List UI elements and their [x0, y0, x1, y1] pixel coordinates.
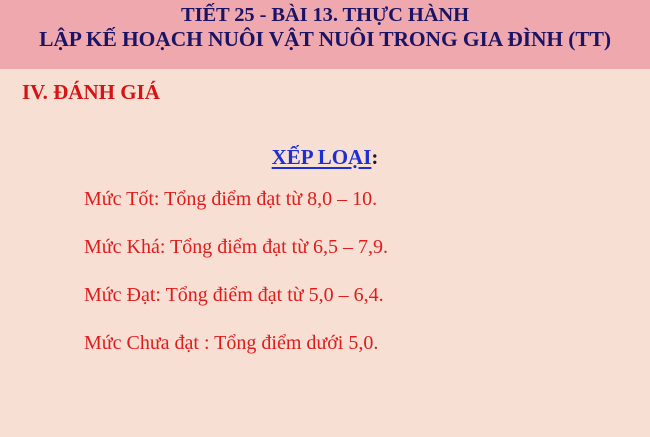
rank-list: Mức Tốt: Tổng điểm đạt từ 8,0 – 10. Mức … — [84, 189, 624, 357]
rank-title: XẾP LOẠI: — [0, 145, 650, 170]
rank-title-word: XẾP LOẠI — [272, 145, 372, 169]
lesson-title-line-1: TIẾT 25 - BÀI 13. THỰC HÀNH — [181, 4, 469, 26]
slide: TIẾT 25 - BÀI 13. THỰC HÀNH LẬP KẾ HOẠCH… — [0, 0, 650, 437]
list-item: Mức Đạt: Tổng điểm đạt từ 5,0 – 6,4. — [84, 285, 624, 309]
section-heading-danh-gia: IV. ĐÁNH GIÁ — [22, 80, 160, 105]
list-item: Mức Tốt: Tổng điểm đạt từ 8,0 – 10. — [84, 189, 624, 213]
list-item: Mức Chưa đạt : Tổng điểm dưới 5,0. — [84, 333, 624, 357]
list-item: Mức Khá: Tổng điểm đạt từ 6,5 – 7,9. — [84, 237, 624, 261]
lesson-title-line-2: LẬP KẾ HOẠCH NUÔI VẬT NUÔI TRONG GIA ĐÌN… — [39, 28, 611, 51]
slide-header-band: TIẾT 25 - BÀI 13. THỰC HÀNH LẬP KẾ HOẠCH… — [0, 0, 650, 69]
rank-title-colon: : — [371, 145, 378, 169]
